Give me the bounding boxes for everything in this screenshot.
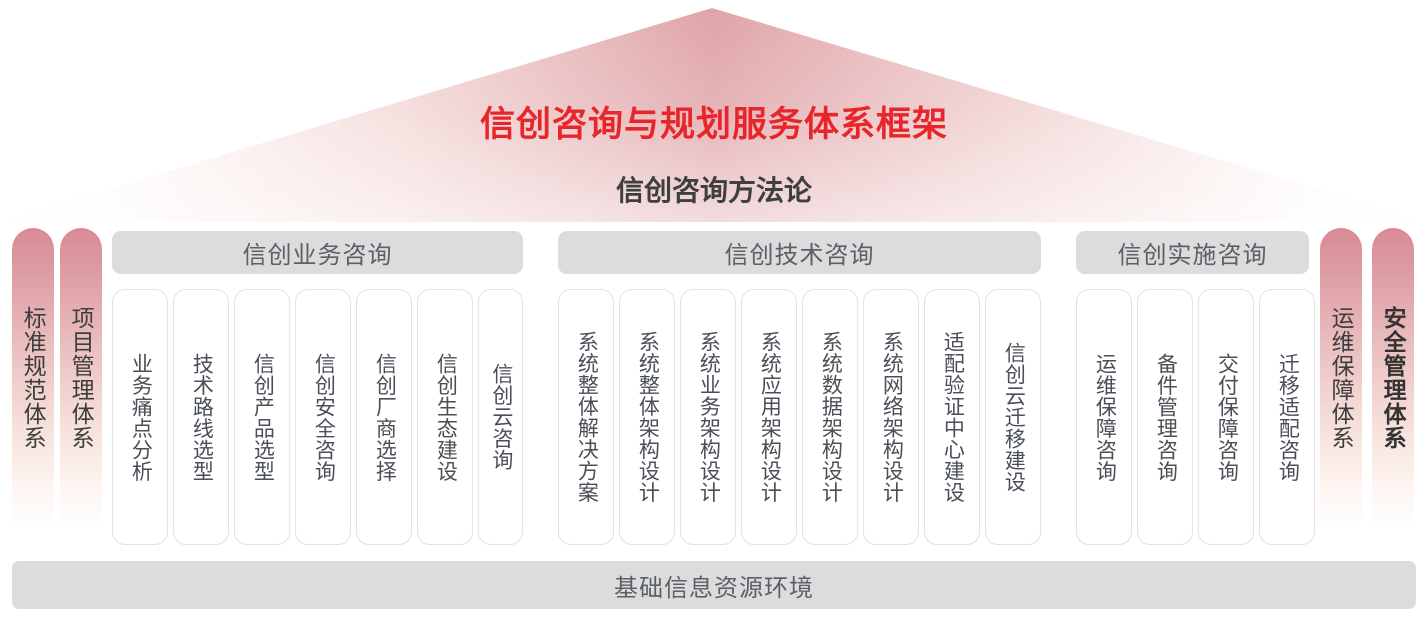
card-technology-1-label: 系统整体解决方案 <box>559 290 613 544</box>
architecture-diagram: 信创咨询与规划服务体系框架 信创咨询方法论 标准规范体系 项目管理体系 运维保障… <box>0 0 1428 627</box>
card-technology-1[interactable]: 系统整体解决方案 <box>558 289 614 545</box>
group-header-technology-label: 信创技术咨询 <box>725 235 875 270</box>
pillar-security[interactable]: 安全管理体系 <box>1372 228 1414 528</box>
card-implementation-1-label: 运维保障咨询 <box>1077 290 1131 544</box>
card-business-7[interactable]: 信创云咨询 <box>478 289 523 545</box>
card-business-6-label: 信创生态建设 <box>418 290 472 544</box>
card-technology-2-label: 系统整体架构设计 <box>620 290 674 544</box>
card-technology-8-label: 信创云迁移建设 <box>986 290 1040 544</box>
pillar-security-label: 安全管理体系 <box>1372 228 1414 528</box>
card-technology-4-label: 系统应用架构设计 <box>742 290 796 544</box>
card-technology-4[interactable]: 系统应用架构设计 <box>741 289 797 545</box>
group-header-business[interactable]: 信创业务咨询 <box>112 231 523 274</box>
foundation-bar[interactable]: 基础信息资源环境 <box>12 561 1416 609</box>
card-business-1[interactable]: 业务痛点分析 <box>112 289 168 545</box>
group-header-implementation-label: 信创实施咨询 <box>1118 235 1268 270</box>
pillar-project-management[interactable]: 项目管理体系 <box>60 228 102 528</box>
foundation-label: 基础信息资源环境 <box>614 568 814 603</box>
card-business-4[interactable]: 信创安全咨询 <box>295 289 351 545</box>
card-business-6[interactable]: 信创生态建设 <box>417 289 473 545</box>
card-technology-7-label: 适配验证中心建设 <box>925 290 979 544</box>
group-header-technology[interactable]: 信创技术咨询 <box>558 231 1041 274</box>
card-business-2-label: 技术路线选型 <box>174 290 228 544</box>
card-business-5-label: 信创厂商选择 <box>357 290 411 544</box>
card-implementation-4-label: 迁移适配咨询 <box>1260 290 1314 544</box>
card-technology-6[interactable]: 系统网络架构设计 <box>863 289 919 545</box>
pillar-standards[interactable]: 标准规范体系 <box>12 228 54 528</box>
page-subtitle: 信创咨询方法论 <box>0 169 1428 209</box>
card-business-1-label: 业务痛点分析 <box>113 290 167 544</box>
card-technology-5-label: 系统数据架构设计 <box>803 290 857 544</box>
pillar-operations-label: 运维保障体系 <box>1320 228 1362 528</box>
page-title: 信创咨询与规划服务体系框架 <box>0 96 1428 147</box>
card-implementation-2[interactable]: 备件管理咨询 <box>1137 289 1193 545</box>
group-header-business-label: 信创业务咨询 <box>243 235 393 270</box>
card-technology-5[interactable]: 系统数据架构设计 <box>802 289 858 545</box>
card-business-2[interactable]: 技术路线选型 <box>173 289 229 545</box>
card-business-4-label: 信创安全咨询 <box>296 290 350 544</box>
card-business-5[interactable]: 信创厂商选择 <box>356 289 412 545</box>
card-technology-8[interactable]: 信创云迁移建设 <box>985 289 1041 545</box>
card-business-3[interactable]: 信创产品选型 <box>234 289 290 545</box>
card-technology-2[interactable]: 系统整体架构设计 <box>619 289 675 545</box>
card-implementation-3-label: 交付保障咨询 <box>1199 290 1253 544</box>
card-implementation-3[interactable]: 交付保障咨询 <box>1198 289 1254 545</box>
card-implementation-1[interactable]: 运维保障咨询 <box>1076 289 1132 545</box>
card-technology-3[interactable]: 系统业务架构设计 <box>680 289 736 545</box>
card-technology-3-label: 系统业务架构设计 <box>681 290 735 544</box>
pillar-standards-label: 标准规范体系 <box>12 228 54 528</box>
card-technology-6-label: 系统网络架构设计 <box>864 290 918 544</box>
card-business-7-label: 信创云咨询 <box>479 290 522 544</box>
group-header-implementation[interactable]: 信创实施咨询 <box>1076 231 1309 274</box>
pillar-operations[interactable]: 运维保障体系 <box>1320 228 1362 528</box>
card-implementation-4[interactable]: 迁移适配咨询 <box>1259 289 1315 545</box>
card-business-3-label: 信创产品选型 <box>235 290 289 544</box>
pillar-project-management-label: 项目管理体系 <box>60 228 102 528</box>
card-technology-7[interactable]: 适配验证中心建设 <box>924 289 980 545</box>
card-implementation-2-label: 备件管理咨询 <box>1138 290 1192 544</box>
